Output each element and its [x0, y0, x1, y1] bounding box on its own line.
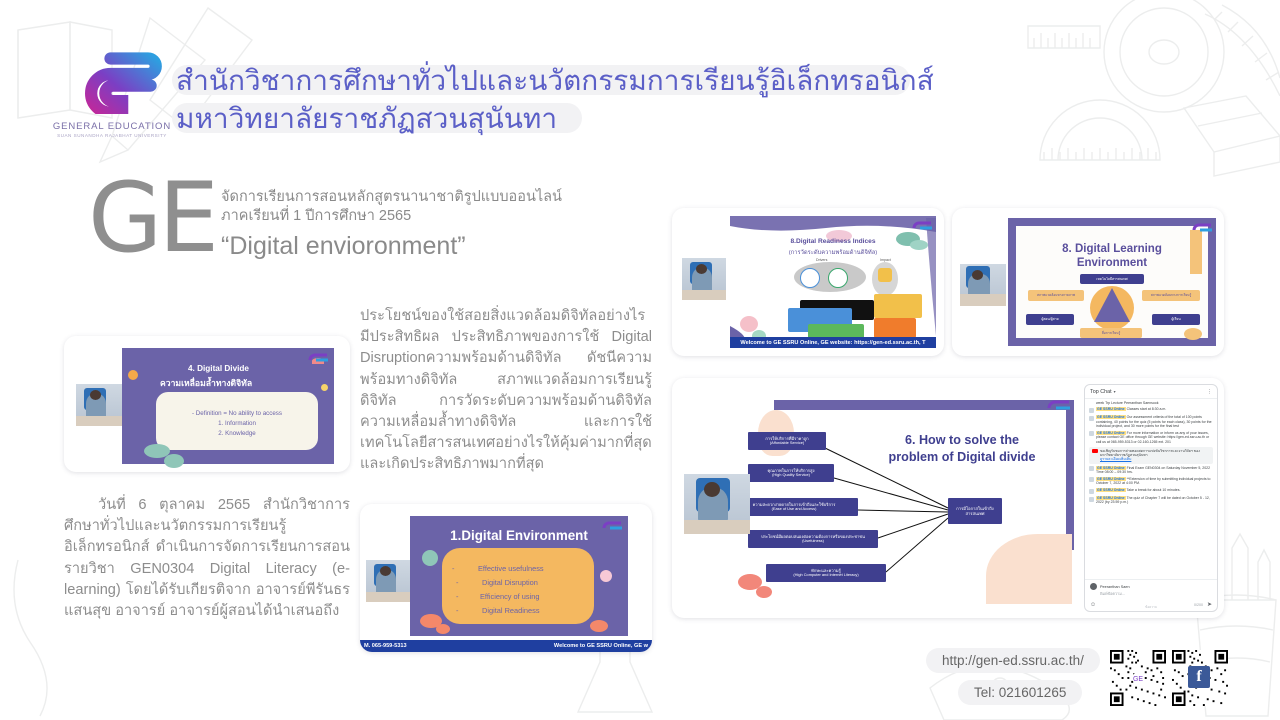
logo-caption: GENERAL EDUCATION [42, 121, 182, 132]
organization-title: สำนักวิชาการศึกษาทั่วไปและนวัตกรรมการเรี… [172, 62, 962, 138]
slide-card-how-to-solve[interactable]: 6. How to solve the problem of Digital d… [672, 378, 1224, 618]
dle-chip-left-bottom-label: ผู้สอน/ผู้สาย [1026, 314, 1074, 325]
env-item-1: Effective usefulness [478, 564, 544, 573]
dle-chip-bottom: สื่อการเรียนรู้ [1080, 328, 1142, 338]
chat-message: GE SSRU Online Our assessment criteria o… [1089, 415, 1213, 428]
slide-card-digital-learning-environment[interactable]: 8. Digital Learning Environment เทคโนโลย… [952, 208, 1224, 356]
dle-chip-bottom-label: สื่อการเรียนรู้ [1080, 328, 1142, 338]
env-dash-2: - [456, 578, 458, 587]
avatar [1089, 431, 1094, 436]
chat-sender: GE SSRU Online [1096, 407, 1126, 411]
dle-chip-left-top-label: สภาพแวดล้อมทางกายภาพ [1028, 290, 1084, 301]
more-options-icon[interactable]: ⋮ [1207, 389, 1212, 395]
webcam-thumbnail [76, 384, 122, 426]
ge-watermark-icon [306, 350, 330, 364]
env-dash-1: - [452, 564, 454, 573]
readiness-title-line2: (การวัดระดับความพร้อมด้านดิจิทัล) [730, 247, 936, 257]
chat-title: Top Chat [1090, 389, 1112, 395]
chat-message: GE SSRU Online The quiz of Chapter 7 wil… [1089, 496, 1213, 505]
divide-bullet-2: 1. Information [156, 420, 318, 427]
course-line-2: ภาคเรียนที่ 1 ปีการศึกษา 2565 [221, 207, 562, 226]
chevron-down-icon[interactable]: ▾ [1114, 389, 1116, 394]
chat-panel[interactable]: Top Chat ▾ ⋮ week Trp Lecture Peeranthan… [1084, 384, 1218, 612]
slide-panel: - Definition = No ability to access 1. I… [156, 392, 318, 450]
dle-chip-right-top: สภาพแวดล้อมทางการเรียนรู้ [1142, 290, 1200, 301]
organization-title-line2: มหาวิทยาลัยราชภัฏสวนสุนันทา [172, 100, 962, 138]
banner-left-text: M. 065-959-5313 [364, 643, 407, 649]
s6-node-1-en: (Affordable Service) [770, 441, 804, 446]
webcam-thumbnail [684, 474, 750, 534]
chat-sender: GE SSRU Online [1096, 415, 1126, 419]
chat-sender: GE SSRU Online [1096, 431, 1126, 435]
divide-bullet-1: - Definition = No ability to access [156, 410, 318, 417]
avatar [1089, 497, 1094, 502]
dle-orange-strip [1190, 230, 1202, 274]
dle-triangle [1094, 288, 1130, 322]
s6-node-2-en: (High Quality Service) [772, 473, 810, 478]
chat-message: GE SSRU Online Classes start at 8:30 a.m… [1089, 407, 1213, 413]
env-item-4: Digital Readiness [482, 606, 540, 615]
webcam-thumbnail [366, 560, 410, 602]
readiness-box-orange [874, 318, 916, 338]
avatar [1089, 477, 1094, 482]
chat-message: GE SSRU Online **Extension of time by su… [1089, 477, 1213, 486]
logo-subcaption: SUAN SUNANDHA RAJABHAT UNIVERSITY [42, 133, 182, 138]
readiness-title-line1: 8.Digital Readiness Indices [730, 238, 936, 245]
s6-node-5: ทักษะและความรู้ (High Computer and Inter… [766, 564, 886, 582]
slide-card-digital-divide[interactable]: 4. Digital Divide ความเหลื่อมล้ำทางดิจิท… [64, 336, 350, 472]
chat-text: Take a break for about 10 minutes. [1127, 488, 1181, 492]
ge-logo: GENERAL EDUCATION SUAN SUNANDHA RAJABHAT… [42, 52, 182, 142]
chat-first-partial: week Trp Lecture Peeranthan Saensook [1096, 401, 1213, 405]
s6-node-3-en: (Ease of Use and Access) [772, 507, 817, 512]
env-item-2: Digital Disruption [482, 578, 538, 587]
dle-title: 8. Digital Learning Environment [1008, 242, 1216, 270]
chat-message: GE SSRU Online Take a break for about 10… [1089, 488, 1213, 494]
env-title: 1.Digital Environment [410, 528, 628, 543]
banner-right-text: Welcome to GE SSRU Online, GE w [554, 643, 648, 649]
website-url[interactable]: http://gen-ed.ssru.ac.th/ [926, 648, 1100, 673]
chat-header: Top Chat ▾ ⋮ [1085, 385, 1217, 399]
s6-node-4: ประโยชน์มีผลตอบสนองต่อความต้องการหรือของ… [748, 530, 878, 548]
chat-footer-note: ข้อความ [1085, 605, 1217, 610]
youtube-icon [1092, 449, 1098, 453]
ge-watermark-icon [1044, 396, 1072, 412]
s6-node-4-en: (Usefulness) [802, 539, 824, 544]
chat-message-list[interactable]: week Trp Lecture Peeranthan Saensook GE … [1085, 399, 1217, 579]
ge-logo-mark [50, 52, 162, 114]
chat-sender: GE SSRU Online [1096, 466, 1126, 470]
env-dash-4: - [456, 606, 458, 615]
divide-bullet-3: 2. Knowledge [156, 430, 318, 437]
chat-message: GE SSRU Online Final Exam GEN0304 on Sat… [1089, 466, 1213, 475]
ge-monogram-text: GE [88, 172, 215, 264]
slide-content-dle: 8. Digital Learning Environment เทคโนโลย… [1008, 218, 1216, 346]
dle-chip-left-top: สภาพแวดล้อมทางกายภาพ [1028, 290, 1084, 301]
chat-text: Classes start at 8:30 a.m. [1127, 407, 1167, 411]
s6-node-1: การให้บริการที่มีราคาถูก (Affordable Ser… [748, 432, 826, 450]
chat-pinned-note: ขอเชิญรับชมการถ่ายทอดสดการแข่งขันวิชาการ… [1089, 447, 1213, 464]
avatar [1090, 583, 1097, 590]
dle-chip-right-top-label: สภาพแวดล้อมทางการเรียนรู้ [1142, 290, 1200, 301]
s6-target-line2: สารสนเทศ [966, 511, 985, 516]
ge-title-block: GE จัดการเรียนการสอนหลักสูตรนานาชาติรูปแ… [88, 172, 562, 264]
slide-content-digital-divide: 4. Digital Divide ความเหลื่อมล้ำทางดิจิท… [122, 348, 334, 464]
qr-center-logo: GE [1133, 676, 1143, 683]
chat-input[interactable]: พิมพ์ข้อความ... [1100, 591, 1212, 597]
ge-watermark-icon [1190, 220, 1214, 234]
slide-card-readiness-indices[interactable]: 8.Digital Readiness Indices (การวัดระดับ… [672, 208, 944, 356]
dle-chip-left-bottom: ผู้สอน/ผู้สาย [1026, 314, 1074, 325]
slide-title-line2: ความเหลื่อมล้ำทางดิจิทัล [160, 376, 252, 390]
chat-sender: GE SSRU Online [1096, 488, 1126, 492]
course-line-1: จัดการเรียนการสอนหลักสูตรนานาชาติรูปแบบอ… [221, 188, 562, 207]
chat-note-text: ขอเชิญรับชมการถ่ายทอดสดการแข่งขันวิชาการ… [1100, 449, 1200, 457]
chat-sender: GE SSRU Online [1096, 496, 1126, 500]
s6-node-2: คุณภาพในการให้บริการสูง (High Quality Se… [748, 464, 834, 482]
dle-chip-right-bottom-label: ผู้เรียน [1152, 314, 1200, 325]
chat-sender: GE SSRU Online [1096, 477, 1126, 481]
env-item-3: Efficiency of using [480, 592, 539, 601]
env-dash-3: - [456, 592, 458, 601]
dle-chip-top: เทคโนโลยีสารสนเทศ [1080, 274, 1144, 284]
slide-title-line1: 4. Digital Divide [188, 364, 249, 373]
s6-node-target: การมีโอกาสในเข้าถึง สารสนเทศ [948, 498, 1002, 524]
readiness-banner-text: Welcome to GE SSRU Online, GE website: h… [740, 340, 925, 346]
readiness-banner: Welcome to GE SSRU Online, GE website: h… [730, 337, 936, 348]
poster-canvas: GENERAL EDUCATION SUAN SUNANDHA RAJABHAT… [0, 0, 1280, 720]
readiness-box-yellow [874, 294, 922, 318]
dle-title-line1: 8. Digital Learning [1062, 243, 1162, 255]
avatar [1089, 408, 1094, 413]
slide-content-readiness: 8.Digital Readiness Indices (การวัดระดับ… [730, 216, 936, 348]
facebook-letter: f [1196, 668, 1201, 686]
avatar [1089, 489, 1094, 494]
composer-user-name: Peeranthan Saen [1100, 585, 1130, 589]
s6-node-5-en: (High Computer and Internet Literacy) [793, 573, 858, 578]
webcam-thumbnail [960, 264, 1006, 306]
paragraph-lower: วันที่ 6 ตุลาคม 2565 สำนักวิชาการศึกษาทั… [64, 495, 350, 622]
dle-chip-top-label: เทคโนโลยีสารสนเทศ [1080, 274, 1144, 284]
ge-watermark-icon [600, 518, 624, 532]
facebook-icon: f [1188, 666, 1210, 688]
chat-note-link[interactable]: ดูรายละเอียดเพิ่มเติม [1100, 457, 1131, 461]
slide-bottom-banner: M. 065-959-5313 Welcome to GE SSRU Onlin… [360, 640, 652, 652]
avatar [1089, 466, 1094, 471]
course-topic: “Digital envioronment” [221, 229, 562, 263]
paragraph-middle: ประโยชน์ของใช้สอยสิ่งแวดล้อมดิจิทัลอย่าง… [360, 306, 652, 476]
organization-title-line1: สำนักวิชาการศึกษาทั่วไปและนวัตกรรมการเรี… [172, 62, 962, 100]
webcam-thumbnail [682, 258, 726, 300]
slide-content-digital-environment: 1.Digital Environment - - - - Effective … [410, 516, 628, 636]
qr-code-website[interactable]: GE [1110, 650, 1166, 706]
slide-card-digital-environment[interactable]: 1.Digital Environment - - - - Effective … [360, 504, 652, 652]
avatar [1089, 416, 1094, 421]
dle-title-line2: Environment [1077, 257, 1147, 269]
chat-message: GE SSRU Online For more information or i… [1089, 431, 1213, 444]
dle-chip-right-bottom: ผู้เรียน [1152, 314, 1200, 325]
telephone: Tel: 021601265 [958, 680, 1082, 705]
ge-watermark-icon [910, 218, 934, 232]
